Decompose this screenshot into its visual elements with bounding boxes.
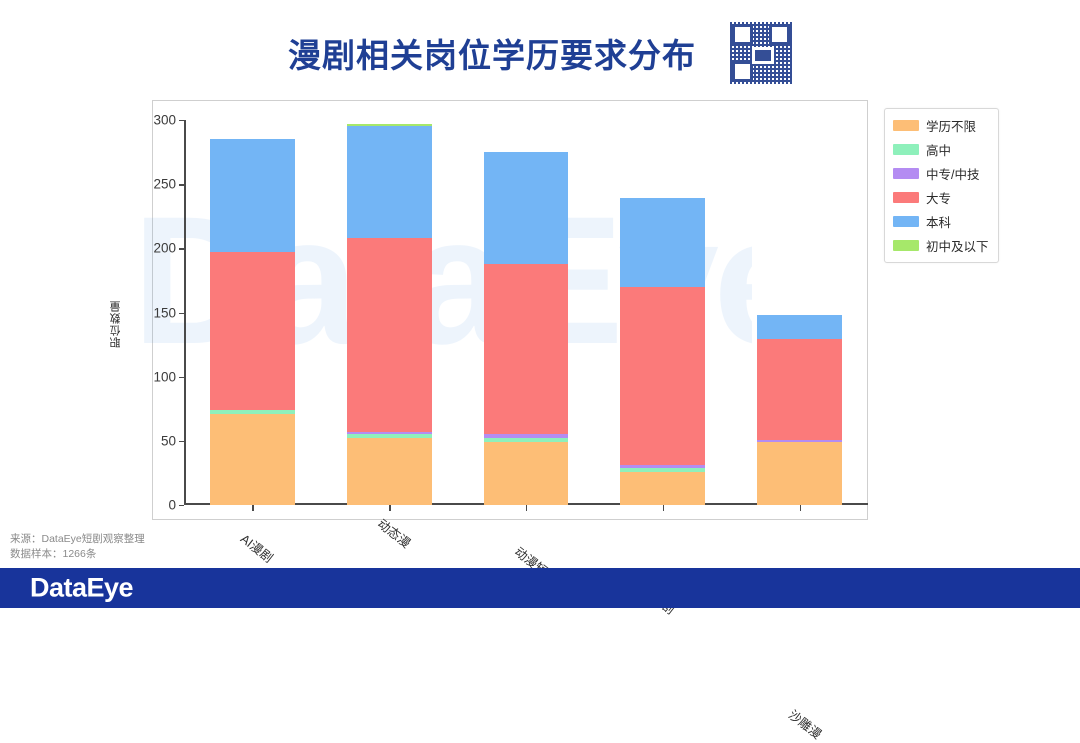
- source-line-1: 来源：DataEye短剧观察整理: [10, 532, 145, 547]
- y-axis-tick-mark: [179, 505, 184, 506]
- legend-swatch-icon: [893, 192, 919, 203]
- legend-swatch-icon: [893, 168, 919, 179]
- bar-group[interactable]: 漫剧: [620, 198, 705, 505]
- y-axis-tick-label: 150: [153, 305, 176, 320]
- dataeye-logo: DataEye: [30, 573, 133, 604]
- chart-legend: 学历不限高中中专/中技大专本科初中及以下: [884, 108, 999, 263]
- x-axis-tick-mark: [252, 505, 253, 511]
- y-axis-tick-mark: [179, 377, 184, 378]
- bar-group[interactable]: 动态漫: [347, 124, 432, 505]
- x-axis-tick-mark: [389, 505, 390, 511]
- bar-segment[interactable]: [210, 414, 295, 505]
- y-axis-tick-mark: [179, 120, 184, 121]
- bar-segment[interactable]: [347, 238, 432, 432]
- bar-segment[interactable]: [620, 287, 705, 465]
- y-axis-tick-mark: [179, 248, 184, 249]
- y-axis-tick-mark: [179, 441, 184, 442]
- footer-bar: DataEye: [0, 568, 1080, 608]
- legend-swatch-icon: [893, 120, 919, 131]
- bar-group[interactable]: 动漫短剧: [484, 152, 569, 505]
- y-axis-tick-label: 200: [153, 241, 176, 256]
- legend-label: 中专/中技: [926, 164, 979, 183]
- source-line-2: 数据样本：1266条: [10, 547, 145, 562]
- legend-label: 学历不限: [926, 116, 976, 135]
- bar-group[interactable]: 沙雕漫: [757, 315, 842, 505]
- legend-item[interactable]: 中专/中技: [893, 164, 989, 183]
- bar-segment[interactable]: [757, 442, 842, 505]
- legend-item[interactable]: 大专: [893, 188, 989, 207]
- y-axis-tick-label: 100: [153, 369, 176, 384]
- qr-code-icon: [730, 22, 792, 84]
- bar-segment[interactable]: [484, 152, 569, 264]
- y-axis-tick-label: 300: [153, 113, 176, 128]
- legend-item[interactable]: 学历不限: [893, 116, 989, 135]
- chart-axes: 050100150200250300AI漫剧动态漫动漫短剧漫剧沙雕漫: [184, 120, 868, 505]
- source-note: 来源：DataEye短剧观察整理 数据样本：1266条: [10, 532, 145, 562]
- legend-item[interactable]: 本科: [893, 212, 989, 231]
- bar-segment[interactable]: [484, 442, 569, 505]
- legend-label: 初中及以下: [926, 236, 989, 255]
- legend-label: 高中: [926, 140, 951, 159]
- page-title: 漫剧相关岗位学历要求分布: [288, 29, 696, 77]
- legend-item[interactable]: 初中及以下: [893, 236, 989, 255]
- bar-segment[interactable]: [347, 126, 432, 238]
- title-row: 漫剧相关岗位学历要求分布: [0, 22, 1080, 84]
- bar-segment[interactable]: [484, 264, 569, 435]
- bar-segment[interactable]: [620, 472, 705, 505]
- x-axis-tick-label: 沙雕漫: [785, 705, 826, 743]
- legend-label: 本科: [926, 212, 951, 231]
- legend-swatch-icon: [893, 216, 919, 227]
- x-axis-tick-mark: [663, 505, 664, 511]
- bar-segment[interactable]: [757, 315, 842, 339]
- bar-segment[interactable]: [620, 198, 705, 287]
- bar-segment[interactable]: [757, 339, 842, 439]
- legend-item[interactable]: 高中: [893, 140, 989, 159]
- x-axis-tick-mark: [800, 505, 801, 511]
- y-axis-tick-label: 0: [168, 498, 176, 513]
- bar-segment[interactable]: [210, 139, 295, 252]
- x-axis-tick-mark: [526, 505, 527, 511]
- legend-label: 大专: [926, 188, 951, 207]
- y-axis-tick-mark: [179, 184, 184, 185]
- y-axis-tick-label: 50: [161, 433, 176, 448]
- bar-segment[interactable]: [210, 252, 295, 410]
- y-axis-tick-label: 250: [153, 177, 176, 192]
- y-axis-tick-mark: [179, 313, 184, 314]
- y-axis-label: 职位数量: [108, 300, 124, 348]
- legend-swatch-icon: [893, 240, 919, 251]
- y-axis-line: [184, 120, 186, 505]
- bar-group[interactable]: AI漫剧: [210, 139, 295, 505]
- x-axis-tick-label: AI漫剧: [238, 529, 279, 567]
- bar-segment[interactable]: [347, 438, 432, 505]
- legend-swatch-icon: [893, 144, 919, 155]
